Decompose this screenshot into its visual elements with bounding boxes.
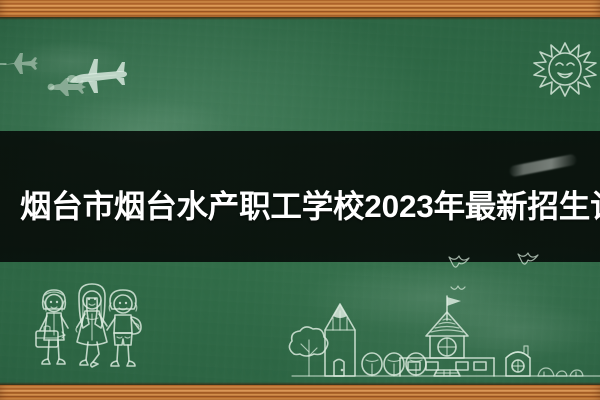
bird-left-icon <box>447 254 473 276</box>
chalkboard-banner: 烟台市烟台水产职工学校2023年最新招生计划 <box>0 0 600 400</box>
page-title: 烟台市烟台水产职工学校2023年最新招生计划 <box>20 182 582 230</box>
airplane-small <box>0 48 40 78</box>
school-scene <box>292 292 600 390</box>
wooden-frame-bottom <box>0 385 600 400</box>
smiling-sun-icon <box>528 32 600 106</box>
child-with-backpack <box>100 285 150 377</box>
bird-right-icon <box>516 251 542 273</box>
wooden-frame-top <box>0 0 600 17</box>
airplane-large <box>64 55 130 95</box>
